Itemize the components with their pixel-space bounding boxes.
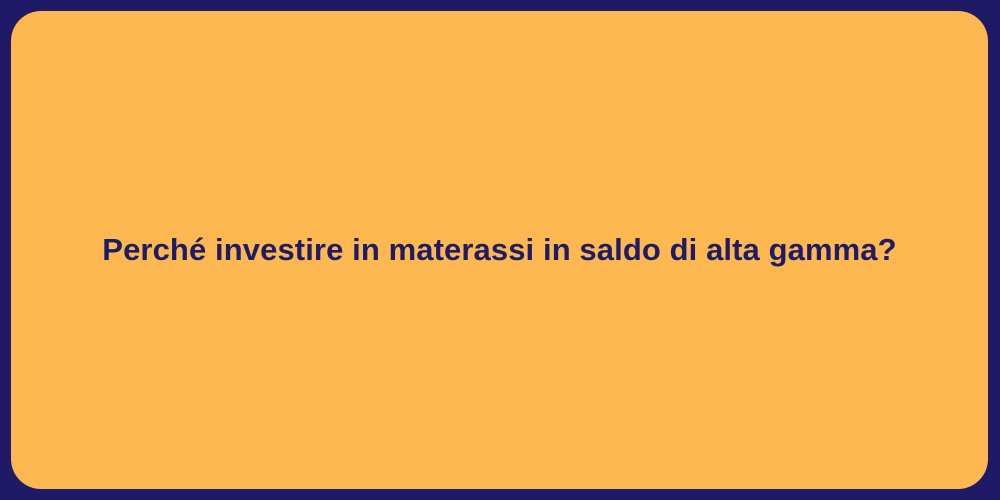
banner-heading: Perché investire in materassi in saldo d… xyxy=(72,231,926,268)
banner-frame: Perché investire in materassi in saldo d… xyxy=(0,0,1000,500)
banner-card: Perché investire in materassi in saldo d… xyxy=(11,11,988,489)
